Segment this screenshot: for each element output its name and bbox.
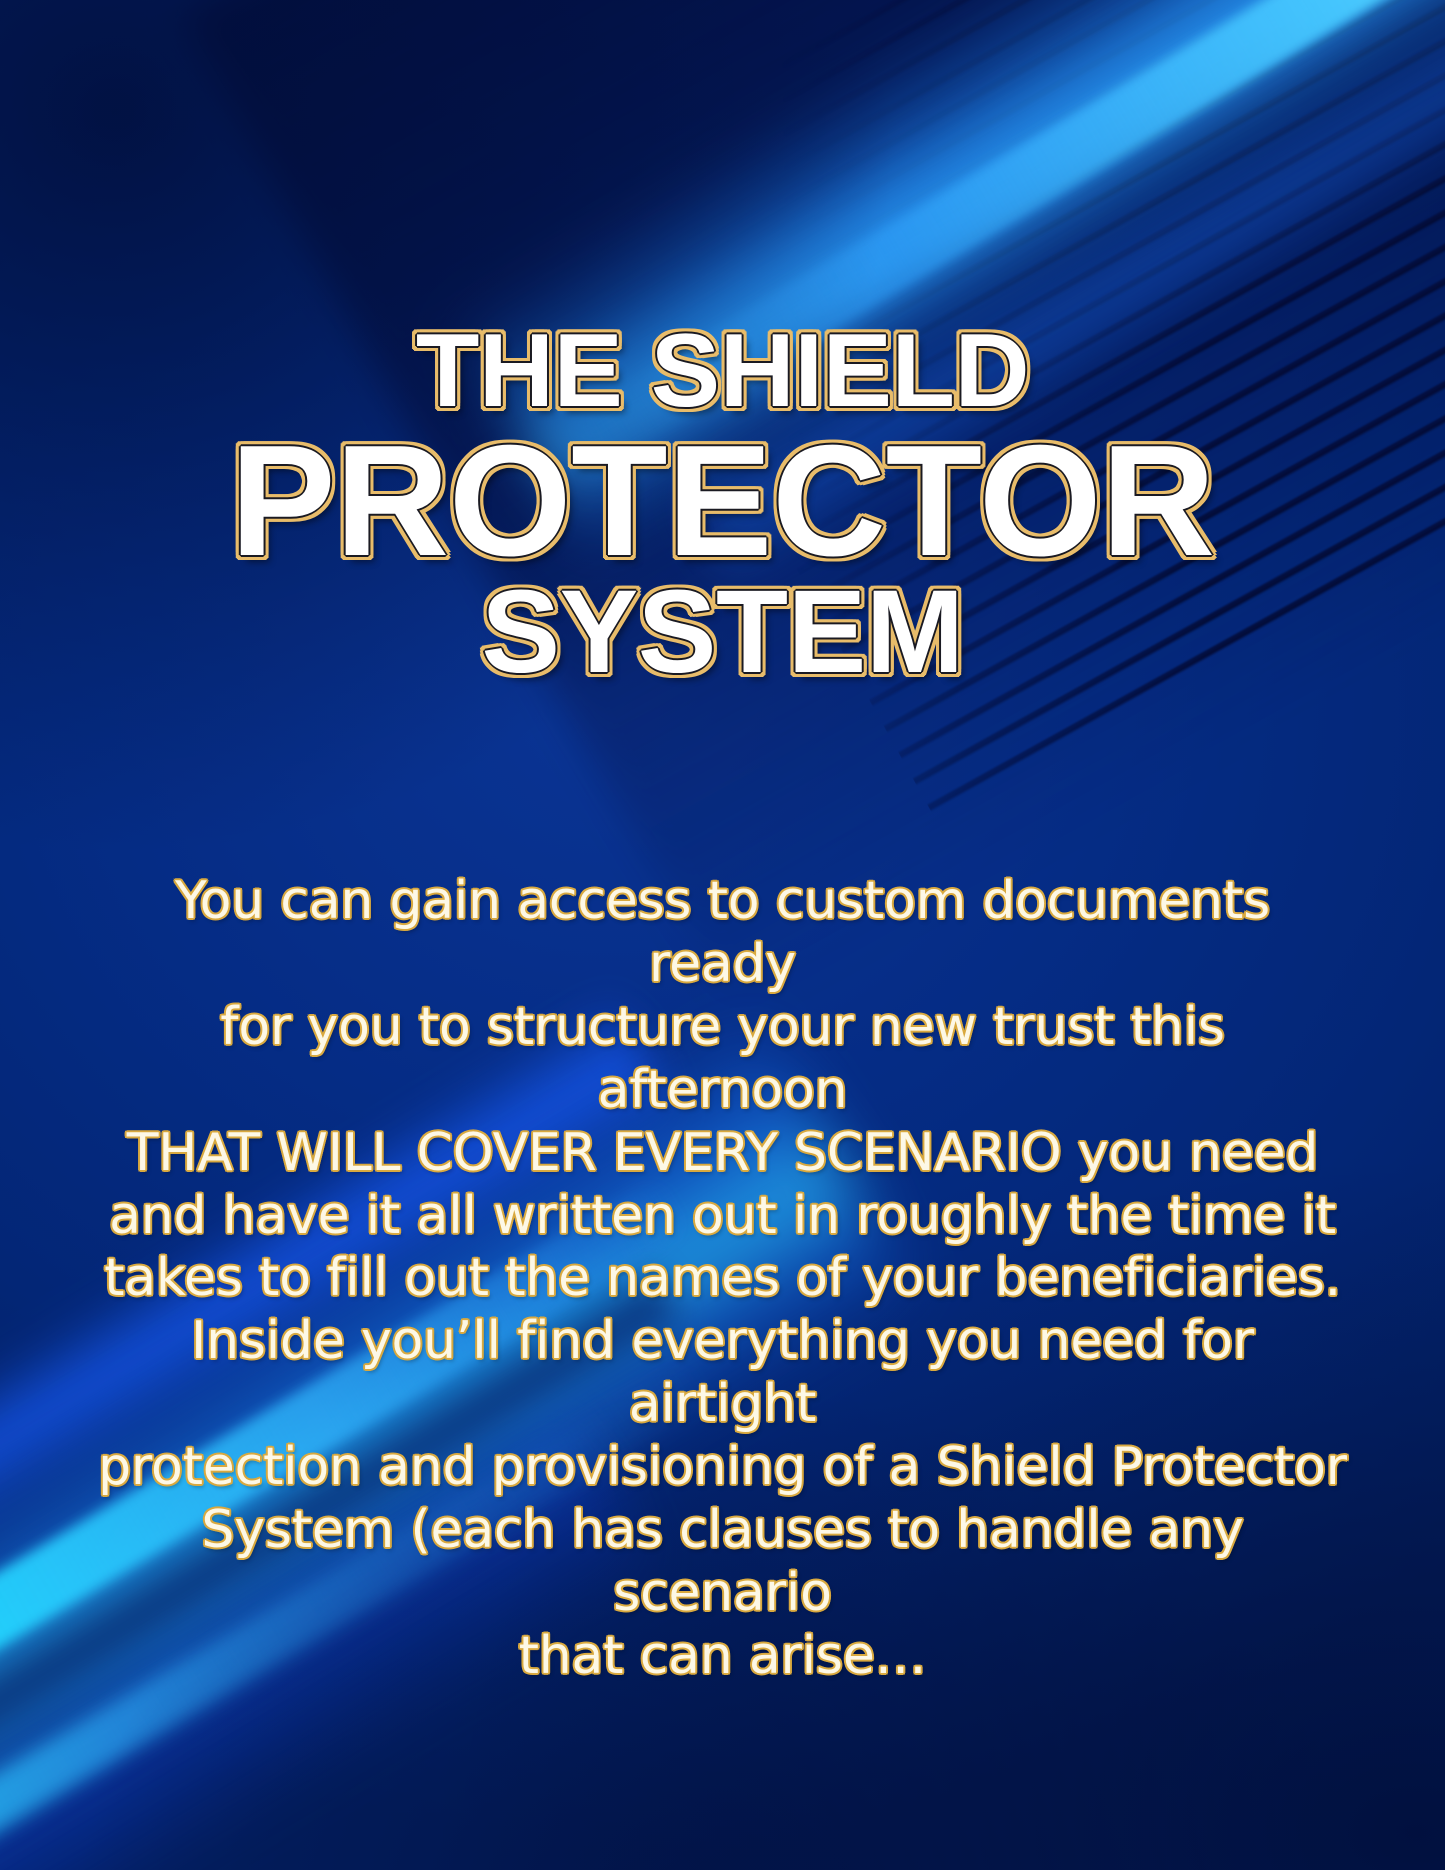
body-line: that can arise…: [96, 1625, 1349, 1688]
body-paragraph: You can gain access to custom documents …: [96, 870, 1349, 1688]
slide-content: THE SHIELD PROTECTOR SYSTEM You can gain…: [0, 0, 1445, 1870]
body-paragraph-container: You can gain access to custom documents …: [96, 818, 1349, 1740]
body-line: You can gain access to custom documents …: [96, 870, 1349, 996]
title-line-system: SYSTEM: [0, 576, 1445, 689]
slide-canvas: THE SHIELD PROTECTOR SYSTEM You can gain…: [0, 0, 1445, 1870]
body-line: THAT WILL COVER EVERY SCENARIO you need: [96, 1122, 1349, 1185]
body-line: takes to fill out the names of your bene…: [96, 1247, 1349, 1310]
slide-title: THE SHIELD PROTECTOR SYSTEM: [0, 322, 1445, 689]
title-line-the-shield: THE SHIELD: [0, 322, 1445, 422]
body-line: for you to structure your new trust this…: [96, 996, 1349, 1122]
body-line: protection and provisioning of a Shield …: [96, 1436, 1349, 1499]
body-line: and have it all written out in roughly t…: [96, 1185, 1349, 1248]
body-line: System (each has clauses to handle any s…: [96, 1499, 1349, 1625]
title-line-protector: PROTECTOR: [0, 426, 1445, 578]
body-line: Inside you’ll find everything you need f…: [96, 1310, 1349, 1436]
